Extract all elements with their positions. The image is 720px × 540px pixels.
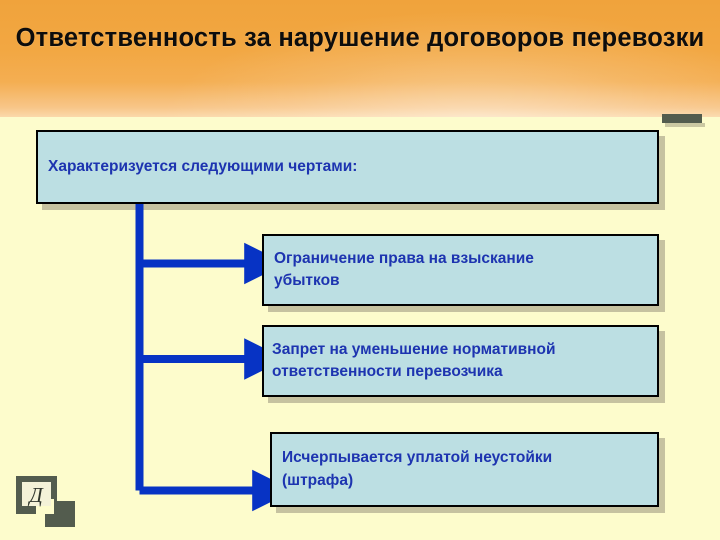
- logo-monogram: Д: [27, 483, 44, 507]
- feature-box-1-label: Ограничение права на взыскание убытков: [264, 248, 657, 293]
- header-tab-shadow: [665, 123, 705, 127]
- slide-header: Ответственность за нарушение договоров п…: [0, 0, 720, 117]
- header-gradient-sheen: [0, 0, 720, 117]
- feature-box-3[interactable]: Исчерпывается уплатой неустойки (штрафа): [270, 432, 659, 507]
- intro-box-label: Характеризуется следующими чертами:: [38, 157, 657, 178]
- feature-box-2[interactable]: Запрет на уменьшение нормативной ответст…: [262, 325, 659, 397]
- feature-box-1[interactable]: Ограничение права на взыскание убытков: [262, 234, 659, 306]
- institution-logo: Д: [14, 472, 78, 530]
- intro-box[interactable]: Характеризуется следующими чертами:: [36, 130, 659, 204]
- page-title: Ответственность за нарушение договоров п…: [14, 22, 706, 56]
- feature-box-3-label: Исчерпывается уплатой неустойки (штрафа): [272, 447, 657, 492]
- feature-box-2-label: Запрет на уменьшение нормативной ответст…: [264, 339, 657, 384]
- header-tab-decoration: [662, 114, 702, 123]
